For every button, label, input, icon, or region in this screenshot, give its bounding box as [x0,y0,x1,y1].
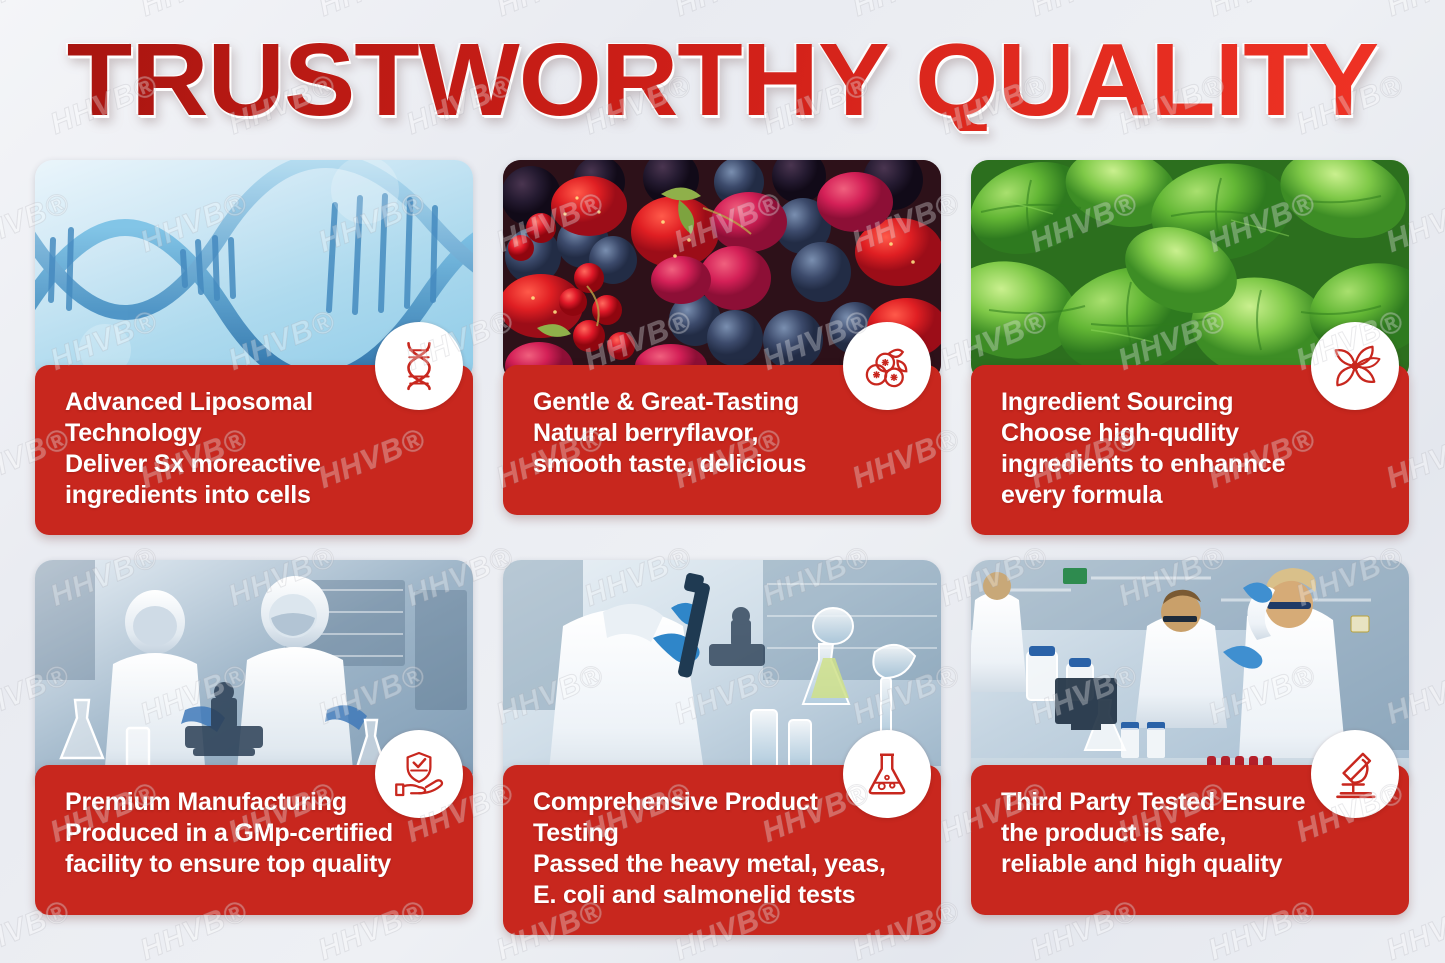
feature-card-third-party-tested[interactable]: Third Party Tested Ensure the product is… [971,560,1409,920]
card-body: Deliver Sx moreactive ingredients into c… [65,449,447,511]
feature-card-liposomal-technology[interactable]: Advanced Liposomal Technology Deliver Sx… [35,160,473,515]
card-body: Choose high-qudlity ingredients to enhan… [1001,418,1383,511]
berries-icon [859,338,915,394]
badge-berries [843,322,931,410]
badge-dna [375,322,463,410]
card-body: Passed the heavy metal, yeas, E. coli an… [533,849,915,911]
badge-flask [843,730,931,818]
mint-leaf-icon [1327,338,1383,394]
badge-mint-leaf [1311,322,1399,410]
feature-card-ingredient-sourcing[interactable]: Ingredient Sourcing Choose high-qudlity … [971,160,1409,515]
hand-shield-check-icon [391,746,447,802]
flask-icon [859,746,915,802]
card-body: the product is safe, reliable and high q… [1001,818,1383,880]
card-body: Natural berryflavor, smooth taste, delic… [533,418,915,480]
feature-card-premium-manufacturing[interactable]: Premium Manufacturing Produced in a GMp-… [35,560,473,920]
page-title: TRUSTWORTHY QUALITY [67,28,1378,131]
microscope-icon [1327,746,1383,802]
badge-hand-shield [375,730,463,818]
page-header: TRUSTWORTHY QUALITY [0,18,1445,140]
feature-card-great-tasting[interactable]: Gentle & Great-Tasting Natural berryflav… [503,160,941,515]
feature-card-grid: Advanced Liposomal Technology Deliver Sx… [35,160,1410,920]
card-body: Produced in a GMp-certified facility to … [65,818,447,880]
feature-card-product-testing[interactable]: Comprehensive Product Testing Passed the… [503,560,941,920]
badge-microscope [1311,730,1399,818]
dna-icon [391,338,447,394]
